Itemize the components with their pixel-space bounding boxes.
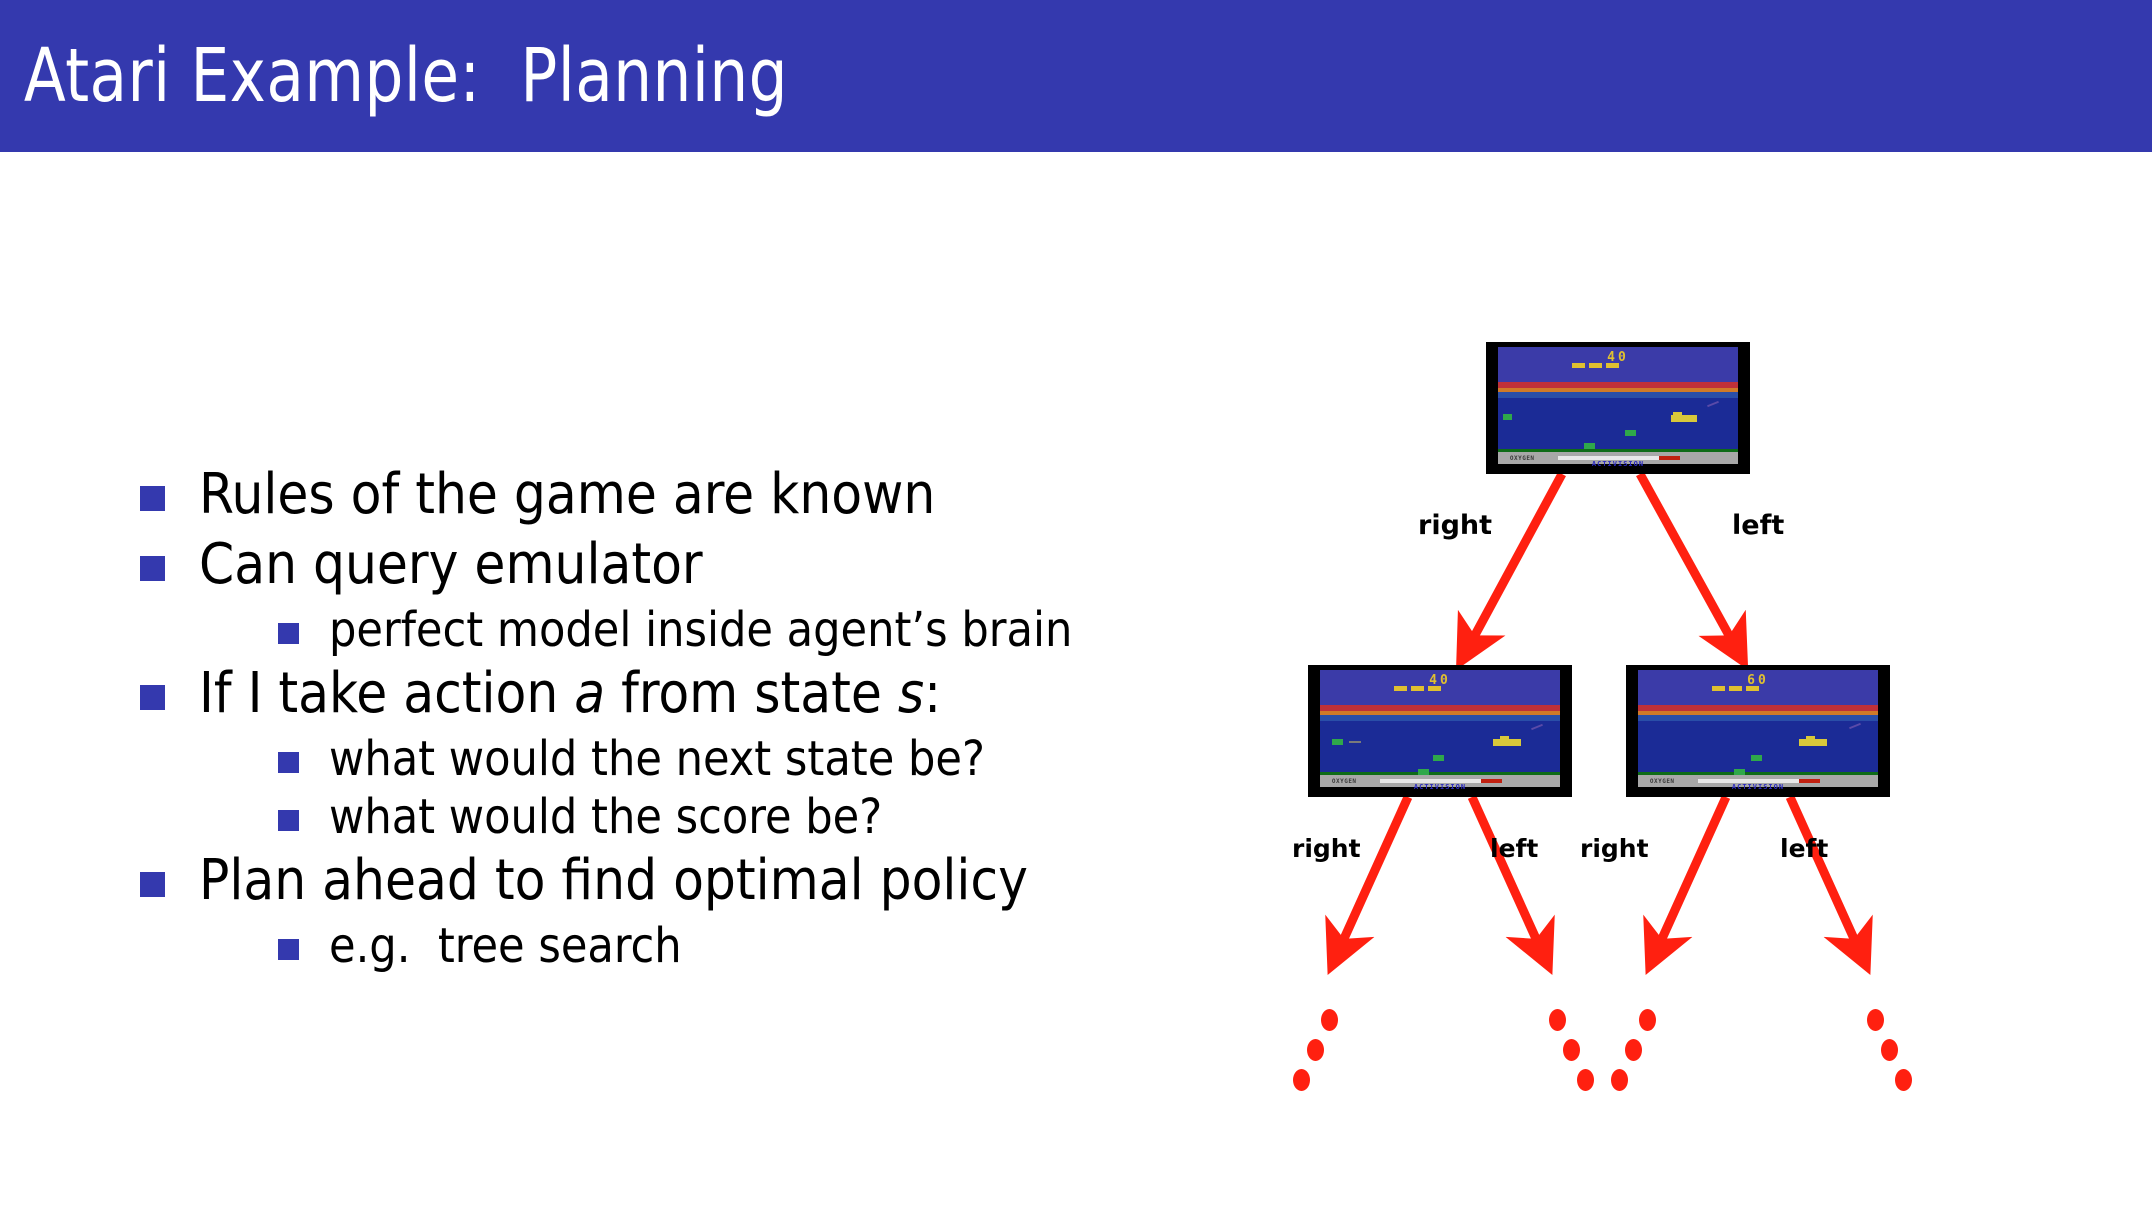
square-bullet-icon [278, 810, 299, 831]
submarine-sprite [1799, 739, 1827, 746]
ellipsis-dot [1293, 1069, 1310, 1091]
submarine-sprite [1671, 415, 1697, 422]
fish-sprite [1751, 755, 1762, 761]
list-item-label: Rules of the game are known [199, 462, 935, 528]
square-bullet-icon [278, 752, 299, 773]
list-item-label: what would the score be? [329, 789, 882, 846]
edge-root-right [1468, 474, 1562, 648]
list-item-label: what would the next state be? [329, 731, 985, 788]
square-bullet-icon [140, 556, 165, 581]
edge-label-right: right [1418, 510, 1492, 541]
list-item: Rules of the game are known [140, 462, 1240, 528]
ellipsis-dot [1881, 1039, 1898, 1061]
ellipsis-dot [1563, 1039, 1580, 1061]
lives-indicator [1394, 686, 1441, 691]
list-item: perfect model inside agent’s brain [278, 602, 1240, 659]
list-item: Can query emulator [140, 532, 1240, 598]
child-state-left-screenshot: 40 OXYGEN ACTIVISION [1308, 665, 1572, 797]
list-item: e.g. tree search [278, 918, 1240, 975]
ellipsis-dot [1639, 1009, 1656, 1031]
list-item-label: perfect model inside agent’s brain [329, 602, 1072, 659]
slide-body: Rules of the game are known Can query em… [0, 152, 2152, 1222]
submarine-sprite [1493, 739, 1521, 746]
lives-indicator [1712, 686, 1759, 691]
activision-label: ACTIVISION [1320, 783, 1560, 791]
lives-indicator [1572, 363, 1619, 368]
edge-label-leaf-3: right [1580, 834, 1649, 863]
square-bullet-icon [140, 872, 165, 897]
ellipsis-dot [1549, 1009, 1566, 1031]
ellipsis-dot [1307, 1039, 1324, 1061]
edge-left-right [1338, 797, 1408, 952]
list-item: If I take action a from state s: [140, 661, 1240, 727]
edge-label-leaf-1: right [1292, 834, 1361, 863]
slide-header: Atari Example: Planning [0, 0, 2152, 152]
root-state-screenshot: 40 OXYGEN ACTIVISION [1486, 342, 1750, 474]
list-item: Plan ahead to find optimal policy [140, 848, 1240, 914]
ellipsis-dot [1577, 1069, 1594, 1091]
list-item: what would the next state be? [278, 731, 1240, 788]
square-bullet-icon [140, 685, 165, 710]
game-tree-diagram: 40 OXYGEN ACTIVISION right [1290, 252, 2110, 1212]
fish-sprite [1332, 739, 1343, 745]
list-item-label: Plan ahead to find optimal policy [199, 848, 1028, 914]
ellipsis-dot [1321, 1009, 1338, 1031]
edge-label-leaf-2: left [1490, 834, 1538, 863]
child-state-right-screenshot: 60 OXYGEN ACTIVISION [1626, 665, 1890, 797]
edge-right-right [1656, 797, 1726, 952]
edge-right-left [1790, 797, 1860, 952]
square-bullet-icon [278, 623, 299, 644]
bullet-list: Rules of the game are known Can query em… [140, 462, 1240, 977]
page-title: Atari Example: Planning [0, 39, 788, 113]
edge-root-left [1640, 474, 1736, 648]
list-item-label: If I take action a from state s: [199, 661, 941, 727]
square-bullet-icon [278, 939, 299, 960]
ellipsis-dot [1867, 1009, 1884, 1031]
activision-label: ACTIVISION [1498, 460, 1738, 468]
list-item-label: e.g. tree search [329, 918, 682, 975]
edge-left-left [1472, 797, 1542, 952]
square-bullet-icon [140, 486, 165, 511]
ellipsis-dot [1895, 1069, 1912, 1091]
list-item-label: Can query emulator [199, 532, 703, 598]
edge-label-leaf-4: left [1780, 834, 1828, 863]
ellipsis-dot [1611, 1069, 1628, 1091]
activision-label: ACTIVISION [1638, 783, 1878, 791]
edge-label-left: left [1732, 510, 1784, 541]
list-item: what would the score be? [278, 789, 1240, 846]
ellipsis-dot [1625, 1039, 1642, 1061]
fish-sprite [1503, 414, 1512, 420]
